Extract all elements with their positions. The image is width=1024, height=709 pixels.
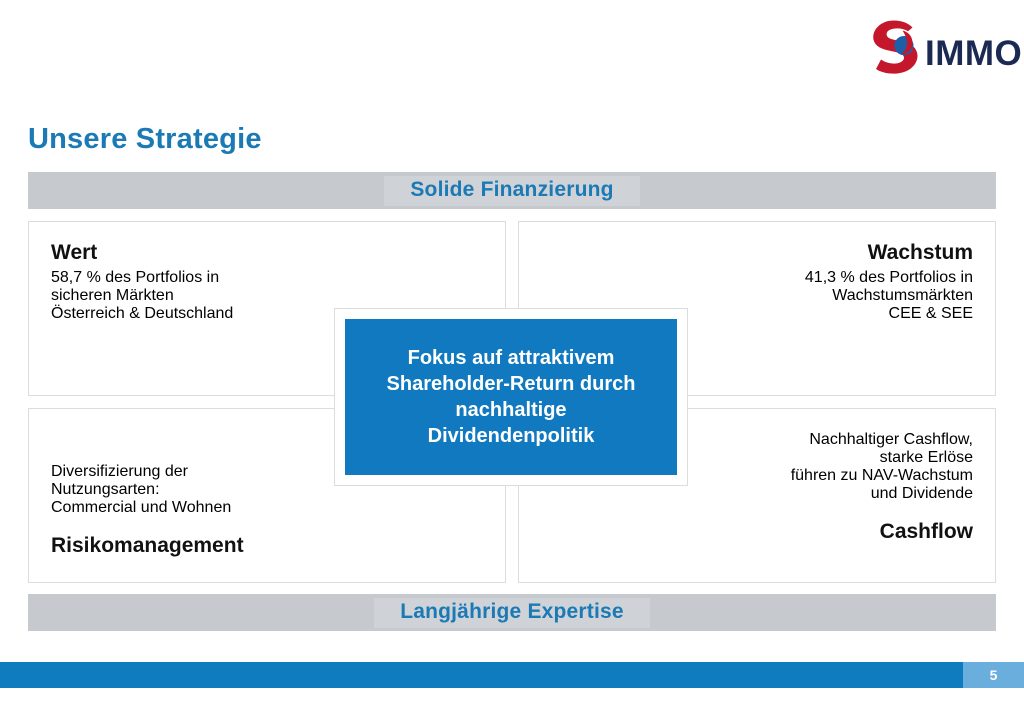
card-cashflow-line-4: und Dividende: [541, 485, 973, 503]
logo-wordmark: IMMO: [925, 36, 1022, 71]
card-risikomanagement-line-3: Commercial und Wohnen: [51, 499, 483, 517]
s-immo-logo-mark: [866, 18, 928, 74]
center-callout-line-1: Fokus auf attraktivem: [387, 345, 636, 371]
footer-bar: 5: [0, 662, 1024, 688]
banner-langjaehrige-expertise: Langjährige Expertise: [28, 594, 996, 631]
banner-bottom-inner: Langjährige Expertise: [374, 598, 650, 628]
center-callout-text: Fokus auf attraktivem Shareholder-Return…: [373, 345, 650, 449]
slide-canvas: IMMO Unsere Strategie Solide Finanzierun…: [0, 0, 1024, 709]
card-wachstum-line-1: 41,3 % des Portfolios in: [541, 269, 973, 287]
card-wachstum-heading: Wachstum: [541, 240, 973, 266]
page-title: Unsere Strategie: [28, 123, 262, 156]
banner-top-inner: Solide Finanzierung: [384, 176, 639, 206]
banner-solide-finanzierung: Solide Finanzierung: [28, 172, 996, 209]
card-wert-heading: Wert: [51, 240, 483, 266]
card-wert-line-1: 58,7 % des Portfolios in: [51, 269, 483, 287]
card-risikomanagement-heading: Risikomanagement: [51, 533, 483, 559]
footer-page-chip: 5: [963, 662, 1024, 688]
center-callout-line-2: Shareholder-Return durch: [387, 371, 636, 397]
company-logo: IMMO: [866, 18, 1006, 76]
card-cashflow-heading: Cashflow: [541, 519, 973, 545]
center-callout-line-3: nachhaltige: [387, 397, 636, 423]
center-callout: Fokus auf attraktivem Shareholder-Return…: [334, 308, 688, 486]
page-number: 5: [990, 667, 998, 683]
banner-top-label: Solide Finanzierung: [410, 178, 613, 201]
banner-bottom-label: Langjährige Expertise: [400, 600, 624, 623]
card-wachstum-line-2: Wachstumsmärkten: [541, 287, 973, 305]
center-callout-line-4: Dividendenpolitik: [387, 423, 636, 449]
card-wert-line-2: sicheren Märkten: [51, 287, 483, 305]
center-callout-panel: Fokus auf attraktivem Shareholder-Return…: [345, 319, 677, 475]
